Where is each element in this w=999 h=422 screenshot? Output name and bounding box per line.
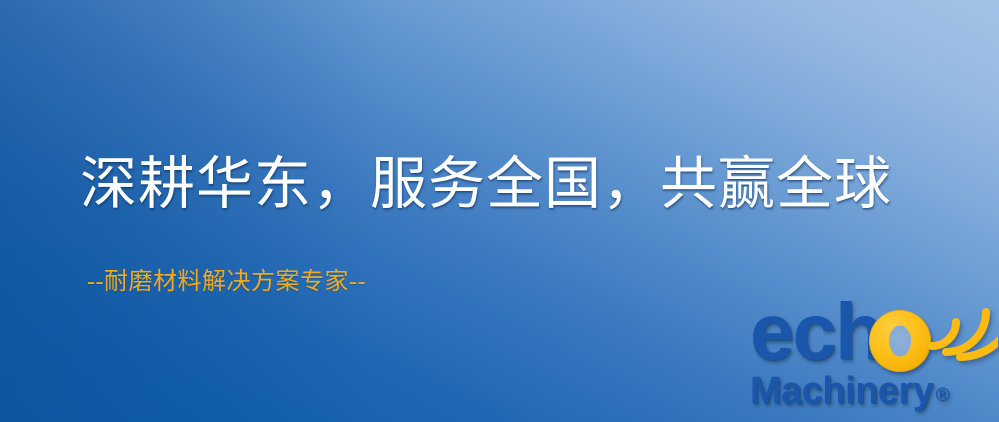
banner-headline: 深耕华东，服务全国，共赢全球 <box>80 152 892 218</box>
echo-signal-waves-icon <box>924 290 998 364</box>
promotional-banner: 深耕华东，服务全国，共赢全球 --耐磨材料解决方案专家-- ech Machin… <box>0 0 999 422</box>
logo-machinery-label: Machinery <box>750 370 933 412</box>
company-logo[interactable]: ech Machinery® <box>748 296 999 422</box>
registered-trademark-icon: ® <box>935 385 949 406</box>
logo-wordmark: ech <box>748 296 999 376</box>
logo-brand-echo-text: ech <box>750 292 882 372</box>
logo-brand-accent-letter-o <box>869 310 931 372</box>
banner-subtitle: --耐磨材料解决方案专家-- <box>87 268 366 297</box>
logo-brand-machinery-text: Machinery® <box>750 372 949 410</box>
